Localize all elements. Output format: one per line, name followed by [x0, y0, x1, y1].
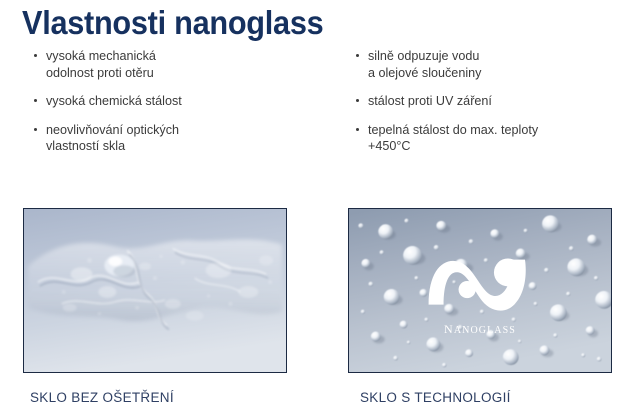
- photo-untreated-glass: [23, 208, 287, 373]
- comparison-panels: SKLO BEZ OŠETŘENÍ: [0, 0, 637, 412]
- photo-treated-glass: Nanoglass: [348, 208, 612, 373]
- panel-caption-treated: SKLO S TECHNOLOGIÍ: [360, 390, 511, 405]
- panel-treated-glass: Nanoglass SKLO S TECHNOLOGIÍ: [348, 208, 612, 373]
- panel-untreated-glass: SKLO BEZ OŠETŘENÍ: [23, 208, 287, 373]
- panel-caption-untreated: SKLO BEZ OŠETŘENÍ: [30, 390, 174, 405]
